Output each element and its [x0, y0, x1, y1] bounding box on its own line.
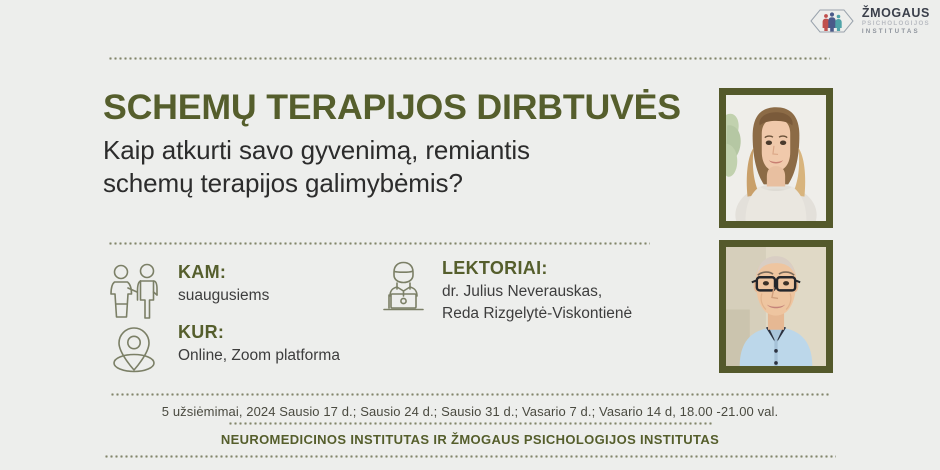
divider-top — [108, 57, 830, 60]
info-text-location: KUR: Online, Zoom platforma — [178, 322, 340, 367]
brand-sub-psichologijos: PSICHOLOGIJOS — [862, 21, 930, 27]
divider-dates — [110, 393, 830, 396]
brand-sub-institutas: INSTITUTAS — [862, 29, 930, 35]
page-subtitle: Kaip atkurti savo gyvenimą, remiantis sc… — [103, 134, 530, 201]
brand-logo-text: ŽMOGAUS PSICHOLOGIJOS INSTITUTAS — [862, 7, 930, 35]
divider-org — [228, 422, 712, 425]
info-value-lektoriai-1: dr. Julius Neverauskas, — [442, 282, 632, 303]
info-label-lektoriai: LEKTORIAI: — [442, 258, 632, 279]
info-value-lektoriai-2: Reda Rizgelytė-Viskontienė — [442, 304, 632, 325]
poster-canvas: ŽMOGAUS PSICHOLOGIJOS INSTITUTAS SCHEMŲ … — [0, 0, 940, 470]
person-at-laptop-icon — [378, 258, 428, 321]
two-people-icon — [104, 262, 164, 329]
info-text-lecturers: LEKTORIAI: dr. Julius Neverauskas, Reda … — [442, 258, 632, 325]
photo-man — [719, 240, 833, 373]
page-subtitle-line2: schemų terapijos galimybėmis? — [103, 167, 530, 200]
info-value-kam: suaugusiems — [178, 286, 269, 307]
info-label-kam: KAM: — [178, 262, 269, 283]
divider-middle — [108, 242, 650, 245]
organizers-line: NEUROMEDICINOS INSTITUTAS IR ŽMOGAUS PSI… — [0, 432, 940, 447]
info-row-audience: KAM: suaugusiems — [104, 262, 269, 329]
info-value-kur: Online, Zoom platforma — [178, 346, 340, 367]
photo-woman — [719, 88, 833, 228]
location-pin-icon — [104, 322, 164, 385]
page-subtitle-line1: Kaip atkurti savo gyvenimą, remiantis — [103, 134, 530, 167]
divider-bottom — [104, 455, 836, 458]
brand-logo: ŽMOGAUS PSICHOLOGIJOS INSTITUTAS — [809, 6, 930, 36]
photo-woman-image — [726, 95, 826, 221]
info-text-audience: KAM: suaugusiems — [178, 262, 269, 307]
brand-name: ŽMOGAUS — [862, 7, 930, 20]
page-title: SCHEMŲ TERAPIJOS DIRBTUVĖS — [103, 88, 681, 128]
info-row-lecturers: LEKTORIAI: dr. Julius Neverauskas, Reda … — [378, 258, 632, 325]
people-in-diamond-icon — [809, 6, 855, 36]
photo-man-image — [726, 247, 826, 366]
info-label-kur: KUR: — [178, 322, 340, 343]
dates-line: 5 užsiėmimai, 2024 Sausio 17 d.; Sausio … — [0, 404, 940, 419]
info-row-location: KUR: Online, Zoom platforma — [104, 322, 340, 385]
